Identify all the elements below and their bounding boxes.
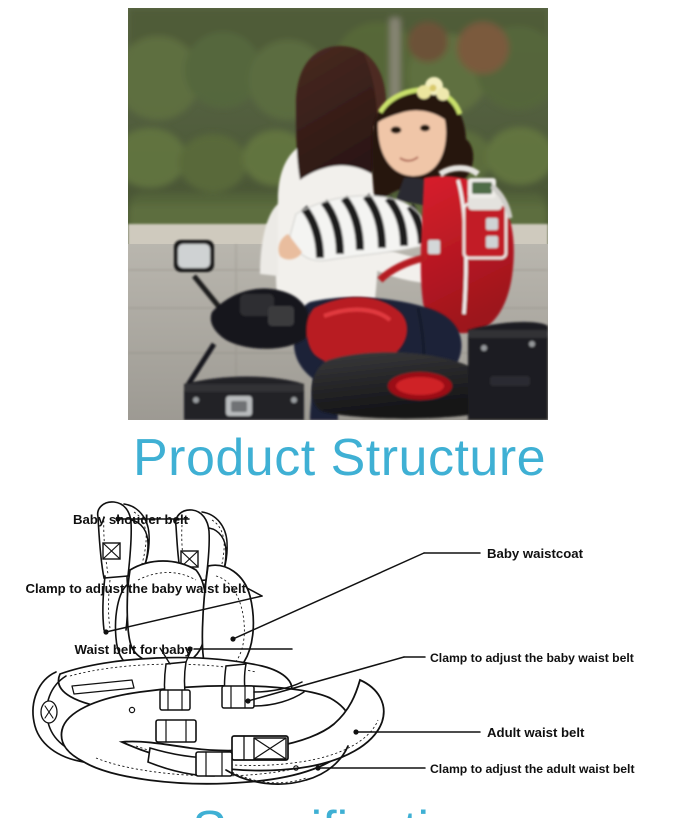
next-section-title: Specification — [0, 800, 679, 818]
callout-baby-waistcoat: Baby waistcoat — [487, 546, 584, 561]
callout-clamp-baby-waist-left: Clamp to adjust the baby waist belt — [25, 581, 246, 596]
hero-photo-illustration — [128, 8, 548, 420]
page-title: Product Structure — [0, 428, 679, 488]
callout-baby-shoulder-belt: Baby shouder belt — [73, 512, 189, 527]
callout-waist-belt-for-baby: Waist belt for baby — [75, 642, 193, 657]
right-adjust-clamp — [222, 686, 254, 708]
callout-adult-waist-belt: Adult waist belt — [487, 725, 585, 740]
adult-belt-adjuster — [196, 752, 232, 776]
product-structure-diagram: Baby shouder belt Clamp to adjust the ba… — [0, 496, 679, 791]
callout-clamp-adult-waist: Clamp to adjust the adult waist belt — [430, 762, 635, 776]
adult-belt-buckle — [232, 736, 288, 760]
structure-line-drawing: Baby shouder belt Clamp to adjust the ba… — [0, 496, 679, 791]
product-hero-photo — [128, 8, 548, 420]
callout-clamp-baby-waist-right: Clamp to adjust the baby waist belt — [430, 651, 634, 665]
baby-waist-clamp — [156, 720, 196, 742]
